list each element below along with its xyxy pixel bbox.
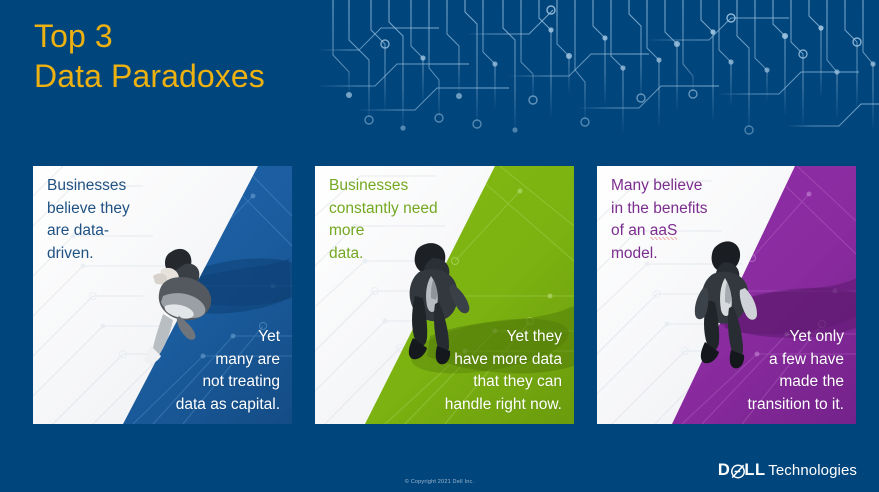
circuit-pattern-decoration bbox=[319, 0, 879, 145]
card-aas-model[interactable]: Many believe in the benefits of an aaS m… bbox=[597, 166, 856, 424]
paradox-cards: Businesses believe they are data- driven… bbox=[33, 166, 856, 424]
card-heading-misspelled-word: aaS bbox=[650, 222, 678, 240]
slide: Top 3 Data Paradoxes bbox=[0, 0, 879, 492]
dell-wordmark: D LL bbox=[718, 461, 766, 480]
technologies-wordmark: Technologies bbox=[768, 462, 857, 479]
dell-technologies-logo: D LL Technologies bbox=[718, 461, 857, 480]
dell-circled-e-icon bbox=[731, 464, 744, 477]
card-footer-text: Yet many are not treating data as capita… bbox=[60, 326, 280, 417]
card-data-driven[interactable]: Businesses believe they are data- driven… bbox=[33, 166, 292, 424]
card-footer-text: Yet only a few have made the transition … bbox=[624, 326, 844, 417]
card-heading: Businesses constantly need more data. bbox=[329, 175, 479, 266]
dell-letters-ll: LL bbox=[744, 461, 765, 480]
card-heading: Businesses believe they are data- driven… bbox=[47, 175, 197, 266]
card-footer-text: Yet they have more data that they can ha… bbox=[342, 326, 562, 417]
dell-letter-d: D bbox=[718, 461, 731, 480]
page-title: Top 3 Data Paradoxes bbox=[34, 17, 265, 96]
card-heading-part-2: model. bbox=[611, 245, 658, 262]
card-heading: Many believe in the benefits of an aaS m… bbox=[611, 175, 761, 266]
card-more-data[interactable]: Businesses constantly need more data. Ye… bbox=[315, 166, 574, 424]
